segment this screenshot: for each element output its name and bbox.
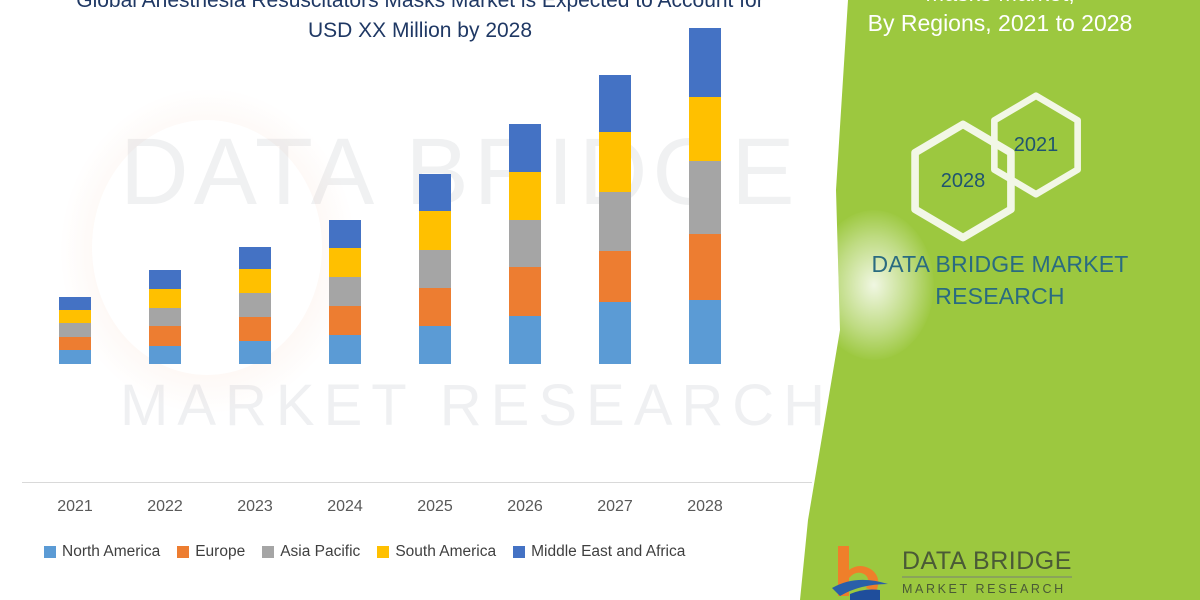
bar-segment [689, 300, 721, 364]
legend-label: Asia Pacific [280, 543, 360, 561]
bar-segment [419, 250, 451, 288]
chart-plot-area: 20212022202320242025202620272028 [0, 0, 860, 600]
panel-brand: DATA BRIDGE MARKET RESEARCH [800, 248, 1200, 312]
bar-segment [689, 97, 721, 161]
bar-segment [329, 220, 361, 248]
legend-swatch-icon [177, 546, 189, 558]
chart-legend: North AmericaEuropeAsia PacificSouth Ame… [44, 540, 685, 564]
x-axis-label-2024: 2024 [310, 498, 380, 516]
hexagon-badges: 2028 2021 [884, 92, 1184, 217]
bar-2021 [59, 297, 91, 364]
bar-segment [419, 288, 451, 327]
legend-item[interactable]: North America [44, 543, 160, 561]
legend-label: Europe [195, 543, 245, 561]
bar-segment [419, 326, 451, 364]
bar-segment [239, 269, 271, 293]
bar-segment [419, 211, 451, 250]
bar-segment [599, 251, 631, 302]
bar-segment [509, 172, 541, 220]
infographic-page: DATA BRIDGE MARKET RESEARCH Global Anest… [0, 0, 1200, 600]
bar-group [0, 0, 800, 482]
legend-item[interactable]: Middle East and Africa [513, 543, 685, 561]
bar-2025 [419, 174, 451, 364]
company-logo: DATA BRIDGE MARKET RESEARCH [830, 540, 1160, 600]
logo-text-line-1: DATA BRIDGE [902, 548, 1072, 578]
bar-segment [689, 161, 721, 234]
right-green-panel: Masks Market, By Regions, 2021 to 2028 2… [800, 0, 1200, 600]
x-axis-line [22, 482, 812, 483]
x-axis-label-2025: 2025 [400, 498, 470, 516]
x-axis-label-2026: 2026 [490, 498, 560, 516]
x-axis-label-2021: 2021 [40, 498, 110, 516]
legend-swatch-icon [513, 546, 525, 558]
legend-item[interactable]: South America [377, 543, 496, 561]
panel-title-line-2: By Regions, 2021 to 2028 [818, 8, 1182, 38]
bar-2026 [509, 124, 541, 364]
hexagon-badge-2021-label: 2021 [1014, 134, 1059, 157]
bar-2024 [329, 220, 361, 364]
bar-segment [599, 132, 631, 192]
panel-brand-line-2: RESEARCH [840, 280, 1160, 312]
bar-segment [509, 316, 541, 364]
bar-2028 [689, 28, 721, 364]
legend-label: South America [395, 543, 496, 561]
bar-segment [59, 350, 91, 364]
bar-segment [599, 302, 631, 364]
bar-segment [329, 306, 361, 335]
logo-text-line-2: MARKET RESEARCH [902, 580, 1072, 598]
panel-title: Masks Market, By Regions, 2021 to 2028 [800, 0, 1200, 38]
x-axis-label-2022: 2022 [130, 498, 200, 516]
bar-segment [689, 234, 721, 301]
bar-segment [59, 337, 91, 351]
bar-segment [59, 310, 91, 324]
legend-label: North America [62, 543, 160, 561]
panel-title-line-1: Masks Market, [818, 0, 1182, 8]
legend-item[interactable]: Asia Pacific [262, 543, 360, 561]
bar-segment [149, 270, 181, 288]
legend-swatch-icon [262, 546, 274, 558]
bar-segment [509, 220, 541, 267]
x-axis-labels: 20212022202320242025202620272028 [0, 498, 800, 524]
legend-label: Middle East and Africa [531, 543, 685, 561]
bar-segment [149, 308, 181, 326]
bar-segment [599, 192, 631, 251]
x-axis-label-2028: 2028 [670, 498, 740, 516]
bar-segment [239, 247, 271, 269]
bar-segment [509, 267, 541, 315]
panel-brand-line-1: DATA BRIDGE MARKET [840, 248, 1160, 280]
hexagon-badge-2021: 2021 [988, 92, 1084, 198]
legend-item[interactable]: Europe [177, 543, 245, 561]
legend-swatch-icon [44, 546, 56, 558]
hexagon-badge-2028-label: 2028 [941, 170, 986, 193]
chart-title: Global Anesthesia Resuscitators Masks Ma… [60, 0, 780, 46]
bar-segment [329, 277, 361, 306]
bar-segment [149, 326, 181, 345]
bar-segment [329, 248, 361, 277]
bar-segment [59, 323, 91, 337]
bar-segment [419, 174, 451, 212]
x-axis-label-2027: 2027 [580, 498, 650, 516]
bar-segment [329, 335, 361, 364]
x-axis-label-2023: 2023 [220, 498, 290, 516]
bar-segment [149, 346, 181, 364]
data-bridge-logo-icon [830, 544, 892, 600]
bar-2022 [149, 270, 181, 364]
bar-segment [239, 293, 271, 316]
logo-text: DATA BRIDGE MARKET RESEARCH [902, 548, 1072, 598]
bar-segment [509, 124, 541, 171]
bar-segment [599, 75, 631, 132]
bar-segment [239, 317, 271, 341]
bar-segment [239, 341, 271, 364]
legend-swatch-icon [377, 546, 389, 558]
bar-segment [149, 289, 181, 308]
bar-segment [59, 297, 91, 310]
bar-2023 [239, 247, 271, 364]
bar-2027 [599, 75, 631, 364]
